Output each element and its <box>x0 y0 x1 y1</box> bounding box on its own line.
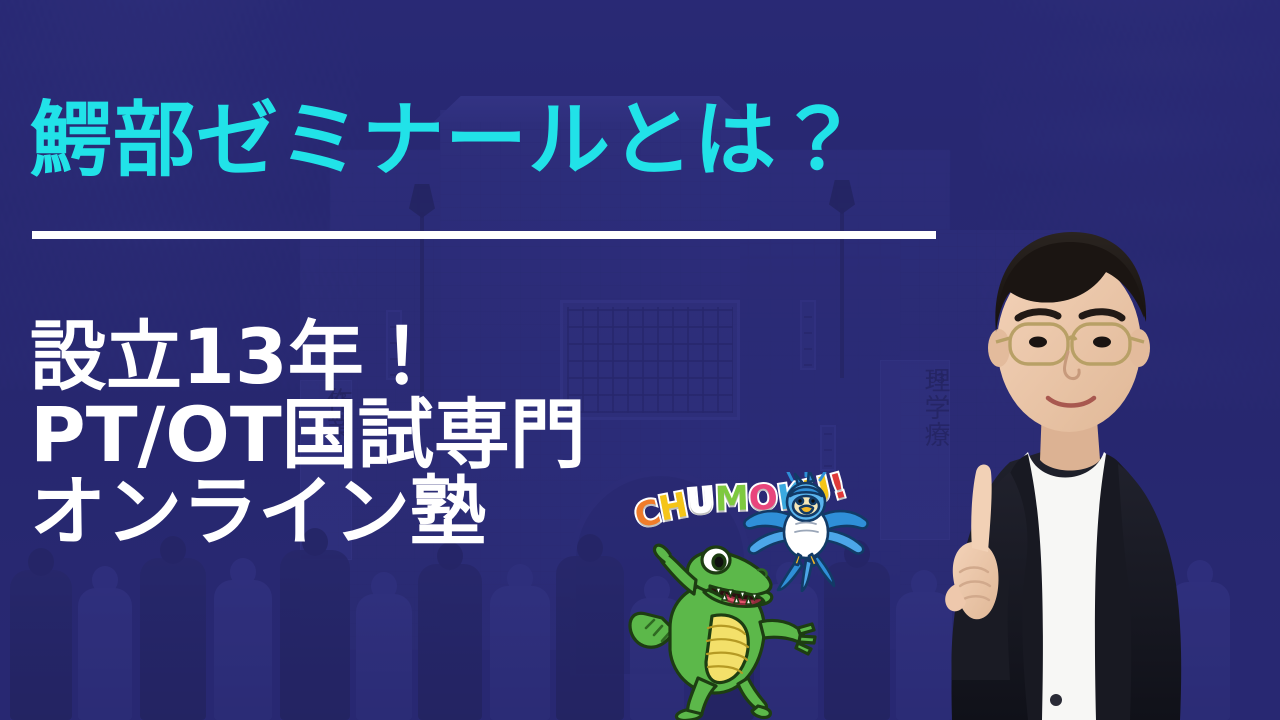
blazer-button <box>1050 694 1062 706</box>
subheadline-line-2: PT/OT国試専門 <box>30 396 586 474</box>
subheadline-line-3: オンライン塾 <box>30 473 586 551</box>
title-divider <box>32 231 936 239</box>
subheadline-line-1: 設立13年！ <box>30 318 586 396</box>
blue-bird-mascot <box>740 472 870 592</box>
index-finger <box>971 465 991 553</box>
presenter-photo <box>860 160 1280 720</box>
slide-canvas: 作業 53 理学療 53 <box>0 0 1280 720</box>
subheadline: 設立13年！ PT/OT国試専門 オンライン塾 <box>30 318 586 551</box>
page-title: 鰐部ゼミナールとは？ <box>30 100 860 182</box>
mascot-group: CHUMOKU! <box>612 462 892 720</box>
